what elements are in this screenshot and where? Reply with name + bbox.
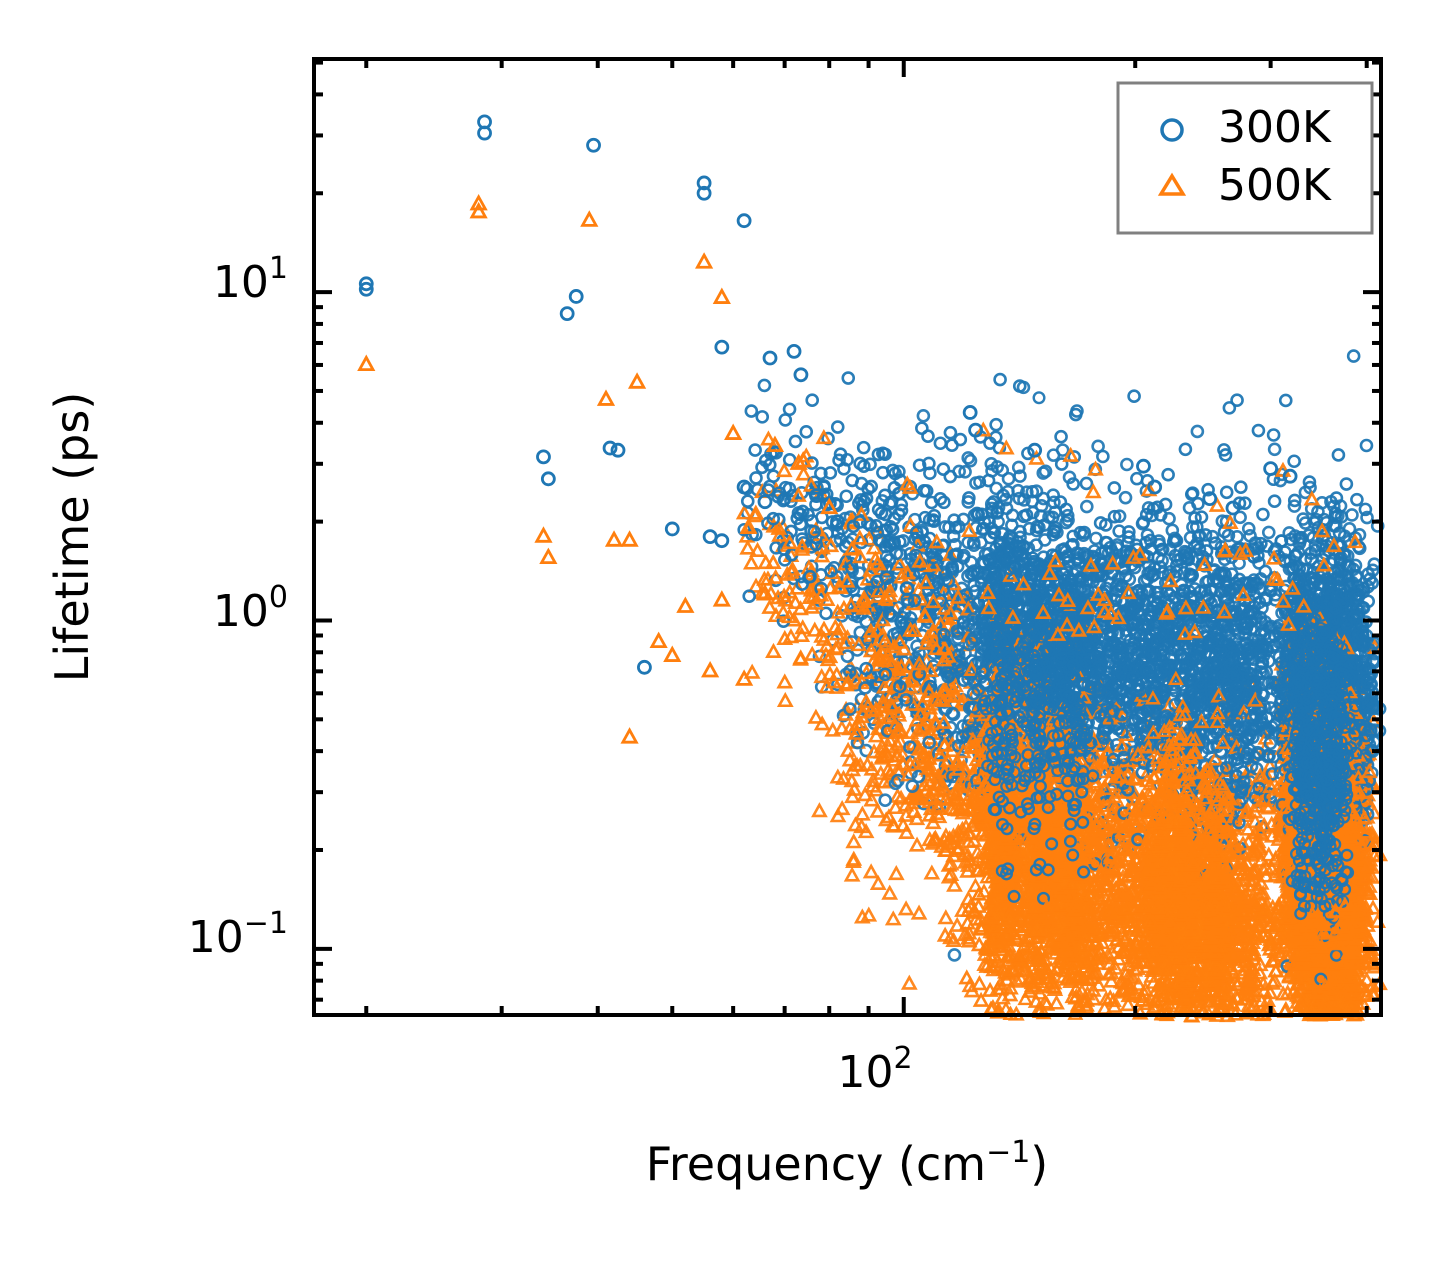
data-point-500K xyxy=(903,977,915,988)
data-point-500K xyxy=(900,903,912,914)
data-point-300K xyxy=(918,410,929,421)
data-point-300K xyxy=(1057,445,1068,456)
figure-canvas: 101 100 10−1 102 Frequency (cm−1) Lifeti… xyxy=(0,0,1442,1265)
data-point-500K xyxy=(848,836,860,847)
data-points-layer xyxy=(360,116,1386,1021)
data-point-300K xyxy=(949,949,960,960)
data-point-500K xyxy=(890,868,902,879)
data-point-300K xyxy=(1192,426,1203,437)
data-point-500K xyxy=(832,810,844,821)
data-point-500K xyxy=(940,912,952,923)
scatter-plot: 101 100 10−1 102 Frequency (cm−1) Lifeti… xyxy=(0,0,1442,1265)
data-point-500K xyxy=(846,775,858,786)
data-point-500K xyxy=(900,827,912,838)
data-point-500K xyxy=(848,853,860,864)
data-point-300K xyxy=(1081,501,1092,512)
data-point-300K xyxy=(1121,459,1132,470)
data-point-500K xyxy=(1093,979,1105,990)
data-point-500K xyxy=(887,913,899,924)
data-point-500K xyxy=(856,808,868,819)
data-point-300K xyxy=(1120,492,1131,503)
data-point-500K xyxy=(911,839,923,850)
data-point-300K xyxy=(880,795,891,806)
data-point-500K xyxy=(846,869,858,880)
data-point-500K xyxy=(911,813,923,824)
data-point-300K xyxy=(1039,534,1050,545)
data-point-500K xyxy=(872,878,884,889)
data-point-500K xyxy=(926,867,938,878)
data-point-500K xyxy=(872,805,884,816)
data-point-500K xyxy=(813,805,825,816)
data-point-500K xyxy=(865,866,877,877)
data-point-500K xyxy=(913,907,925,918)
data-point-300K xyxy=(1003,473,1014,484)
